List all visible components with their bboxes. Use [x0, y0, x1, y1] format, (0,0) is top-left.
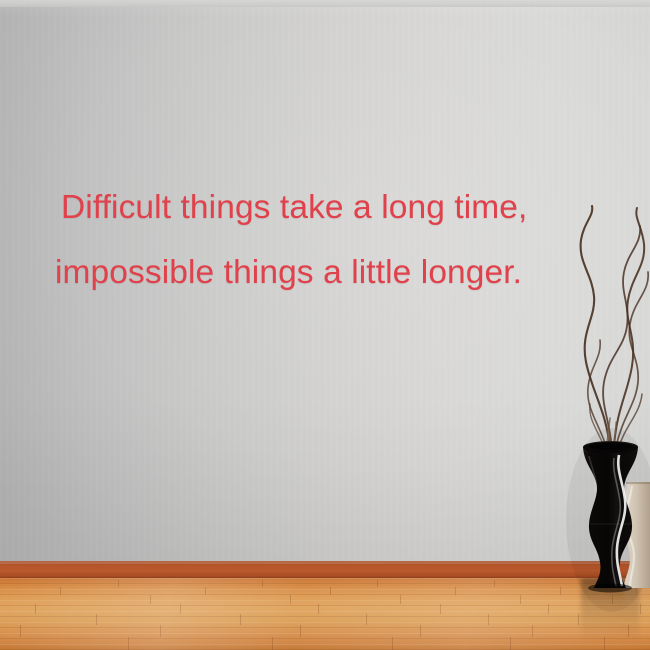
wall-decal-quote: Difficult things take a long time, impos…	[52, 186, 600, 295]
baseboard-highlight	[0, 561, 650, 564]
baseboard	[0, 561, 650, 578]
wall-top-edge	[0, 0, 650, 7]
floor-plank-seams	[0, 578, 650, 650]
decal-line-1: Difficult things take a long time,	[52, 186, 600, 230]
wood-floor	[0, 578, 650, 650]
decal-line-2: impossible things a little longer.	[52, 251, 600, 295]
room-scene: Difficult things take a long time, impos…	[0, 0, 650, 650]
